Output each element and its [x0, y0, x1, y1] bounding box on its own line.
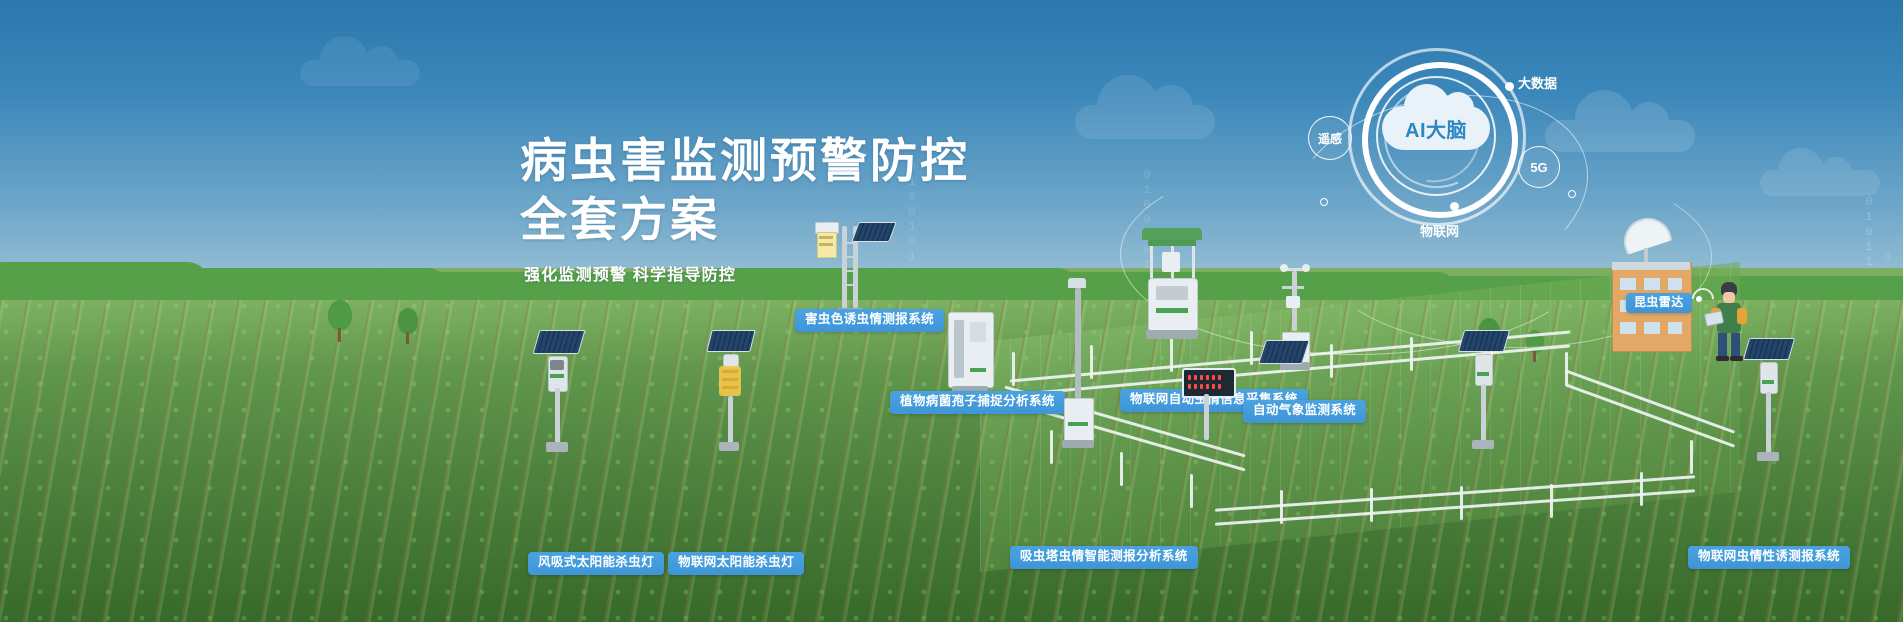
display-board-pole: [1204, 394, 1209, 440]
device-iot-auto-pest-info-collection-system[interactable]: [1138, 228, 1218, 348]
led-display-board: [1182, 368, 1236, 398]
node-dot-icon: [1320, 198, 1328, 206]
weather-station-solar-panel: [1258, 340, 1310, 364]
node-dot-icon: [1505, 82, 1514, 91]
label-suction-tower-pest-intelligent-forecast-analysis-system[interactable]: 吸虫塔虫情智能测报分析系统: [1010, 546, 1198, 569]
device-wind-suction-solar-insect-lamp[interactable]: [530, 330, 600, 450]
device-iot-solar-insect-lamp[interactable]: [705, 330, 775, 450]
wifi-signal-icon: [1692, 282, 1718, 304]
device-suction-tower-pest-intelligent-forecast-analysis-system[interactable]: [1060, 278, 1100, 458]
node-iot[interactable]: 物联网: [1420, 221, 1459, 240]
ai-brain-label: AI大脑: [1382, 108, 1490, 148]
title-line-1: 病虫害监测预警防控: [520, 131, 970, 190]
node-big-data[interactable]: 大数据: [1518, 73, 1557, 92]
cloud-decoration: [300, 60, 420, 86]
label-automatic-weather-monitoring-system[interactable]: 自动气象监测系统: [1243, 400, 1366, 423]
label-iot-solar-insect-lamp[interactable]: 物联网太阳能杀虫灯: [668, 552, 804, 575]
node-dot-icon: [1568, 190, 1576, 198]
cloud-decoration: [1075, 105, 1215, 139]
device-iot-pest-pheromone-lure-forecast-system[interactable]: [1455, 330, 1525, 450]
label-insect-radar[interactable]: 昆虫雷达: [1626, 293, 1692, 313]
label-wind-suction-solar-insect-lamp[interactable]: 风吸式太阳能杀虫灯: [528, 552, 664, 575]
label-plant-pathogen-spore-capture-analysis-system[interactable]: 植物病菌孢子捕捉分析系统: [890, 391, 1065, 414]
ai-brain-cluster: AI大脑 遥感 5G 大数据 物联网: [1300, 38, 1590, 238]
label-iot-pest-pheromone-lure-forecast-system[interactable]: 物联网虫情性诱测报系统: [1688, 546, 1850, 569]
node-dot-icon: [1450, 202, 1459, 211]
node-5g[interactable]: 5G: [1518, 146, 1560, 188]
device-pest-color-lure-forecast-system[interactable]: [815, 222, 905, 322]
pest-monitoring-solution-banner: 010010101101 0100101 010110101101101 010…: [0, 0, 1903, 622]
cloud-decoration: [1760, 170, 1880, 196]
label-pest-color-lure-forecast-system[interactable]: 害虫色诱虫情测报系统: [795, 309, 944, 332]
node-remote-sensing[interactable]: 遥感: [1308, 116, 1352, 160]
